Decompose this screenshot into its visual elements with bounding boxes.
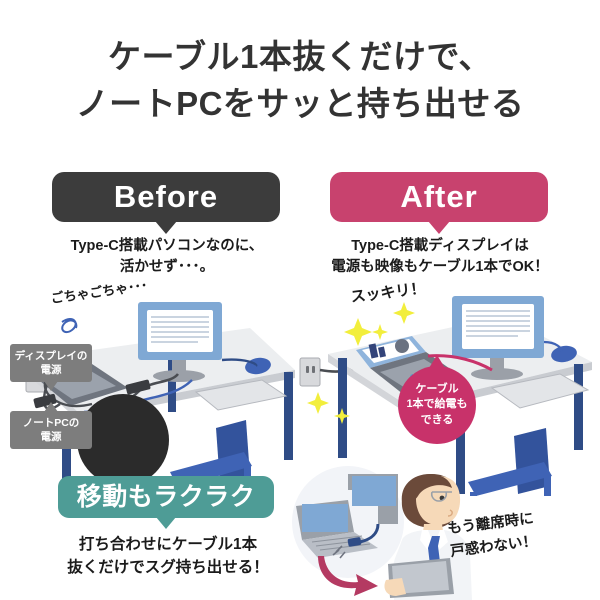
callout-display-power-tail — [44, 381, 58, 391]
before-badge: Before — [52, 172, 280, 222]
cable-power-badge-line-1: ケーブル — [406, 382, 467, 397]
mobility-caption-line-2: 抜くだけでスグ持ち出せる！ — [38, 557, 298, 580]
after-badge-label: After — [400, 179, 477, 214]
infographic-page: ケーブル1本抜くだけで、 ノートPCをサッと持ち出せる Before Type-… — [0, 0, 600, 600]
after-caption-line-2: 電源も映像もケーブル1本でOK！ — [316, 257, 564, 278]
after-caption: Type-C搭載ディスプレイは 電源も映像もケーブル1本でOK！ — [316, 236, 564, 279]
callout-laptop-power-tail — [44, 402, 58, 412]
after-badge-pointer — [428, 221, 450, 234]
after-badge: After — [330, 172, 548, 222]
callout-laptop-power: ノートPCの 電源 — [10, 411, 92, 449]
callout-display-power: ディスプレイの 電源 — [10, 344, 92, 382]
callout-display-power-line-2: 電源 — [14, 363, 88, 377]
mobility-banner: 移動もラクラク — [58, 476, 274, 518]
callout-laptop-power-line-1: ノートPCの — [14, 416, 88, 430]
cable-power-badge-line-3: できる — [406, 413, 467, 428]
mobility-caption-line-1: 打ち合わせにケーブル1本 — [38, 534, 298, 557]
headline-line-2: ノートPCをサッと持ち出せる — [0, 81, 600, 128]
before-caption: Type-C搭載パソコンなのに、 活かせず･･･。 — [42, 236, 292, 279]
mobility-banner-label: 移動もラクラク — [77, 483, 256, 511]
callout-laptop-power-line-2: 電源 — [14, 430, 88, 444]
cable-power-badge-line-2: 1本で給電も — [406, 397, 467, 412]
headline-line-1: ケーブル1本抜くだけで、 — [108, 38, 492, 75]
mobility-banner-pointer — [156, 517, 176, 529]
before-badge-pointer — [155, 221, 177, 234]
page-title: ケーブル1本抜くだけで、 ノートPCをサッと持ち出せる — [0, 34, 600, 128]
mobility-caption: 打ち合わせにケーブル1本 抜くだけでスグ持ち出せる！ — [38, 534, 298, 580]
before-caption-line-2: 活かせず･･･。 — [42, 257, 292, 278]
cable-power-badge: ケーブル 1本で給電も できる — [398, 366, 476, 444]
before-caption-line-1: Type-C搭載パソコンなのに、 — [42, 236, 292, 257]
cable-power-badge-tail — [429, 355, 445, 368]
callout-display-power-line-1: ディスプレイの — [14, 349, 88, 363]
after-caption-line-1: Type-C搭載ディスプレイは — [316, 236, 564, 257]
before-badge-label: Before — [114, 179, 218, 214]
